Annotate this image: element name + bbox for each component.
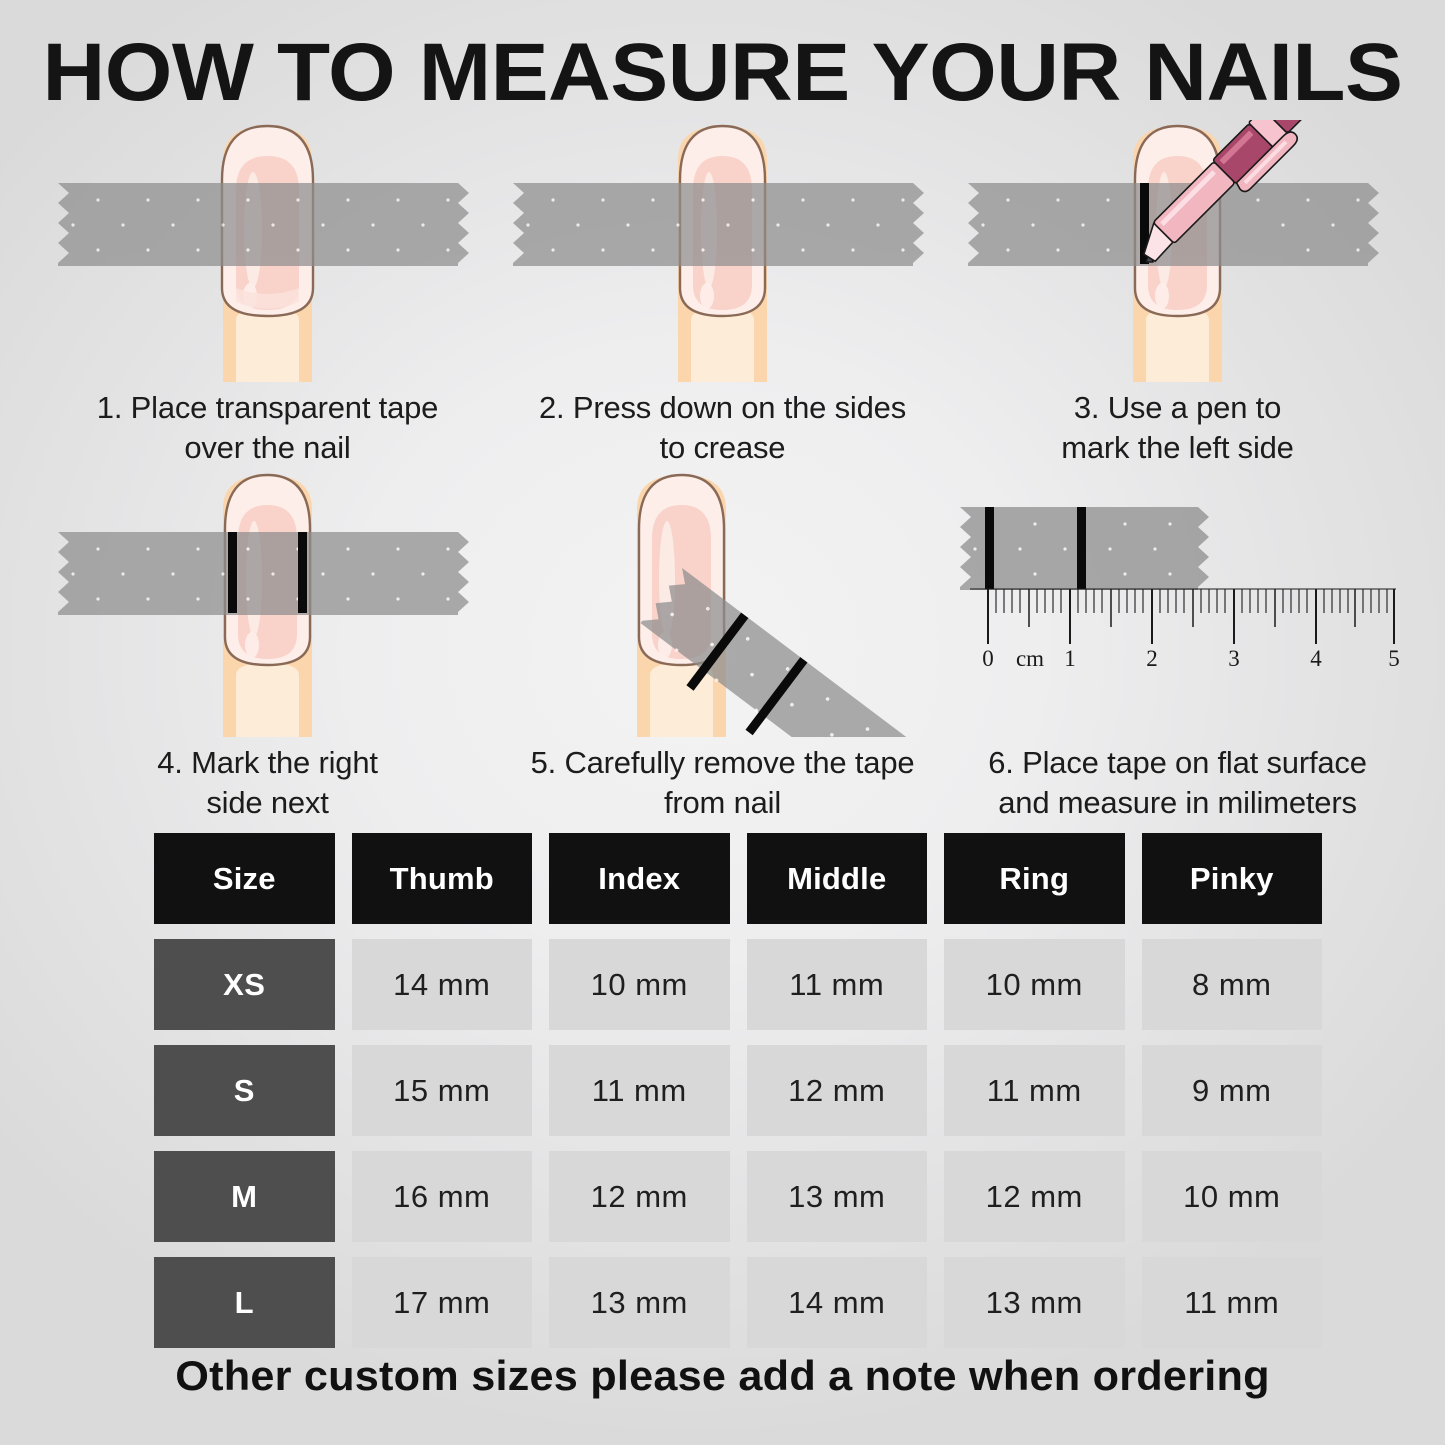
step-4-caption: 4. Mark the right side next (157, 743, 378, 824)
cell-xs-middle: 11 mm (747, 939, 928, 1030)
tape-strip (58, 532, 469, 615)
step-3-illustration (950, 120, 1405, 382)
page-title: HOW TO MEASURE YOUR NAILS (0, 26, 1445, 120)
step-6: 0 cm 1 2 3 4 5 6. Place tape on flat sur… (950, 469, 1405, 824)
footer-note: Other custom sizes please add a note whe… (0, 1352, 1445, 1400)
cell-xs-thumb: 14 mm (352, 939, 533, 1030)
cell-m-middle: 13 mm (747, 1151, 928, 1242)
cell-l-pinky: 11 mm (1142, 1257, 1323, 1348)
step-2-illustration (495, 120, 950, 382)
step-1-illustration (40, 120, 495, 382)
size-label-m: M (154, 1151, 335, 1242)
cell-s-thumb: 15 mm (352, 1045, 533, 1136)
ruler-tick-5: 5 (1388, 646, 1400, 671)
ruler (970, 589, 1396, 644)
cell-l-thumb: 17 mm (352, 1257, 533, 1348)
cell-s-middle: 12 mm (747, 1045, 928, 1136)
ruler-tick-4: 4 (1310, 646, 1322, 671)
step-5-illustration (495, 469, 950, 737)
step-2-caption: 2. Press down on the sides to crease (539, 388, 906, 469)
cell-xs-pinky: 8 mm (1142, 939, 1323, 1030)
cell-m-thumb: 16 mm (352, 1151, 533, 1242)
step-3: 3. Use a pen to mark the left side (950, 120, 1405, 469)
table-header-row: Size Thumb Index Middle Ring Pinky (154, 833, 1322, 924)
step-1: 1. Place transparent tape over the nail (40, 120, 495, 469)
ruler-labels: 0 cm 1 2 3 4 5 (982, 646, 1400, 671)
cell-xs-index: 10 mm (549, 939, 730, 1030)
table-row: L 17 mm 13 mm 14 mm 13 mm 11 mm (154, 1257, 1322, 1348)
ruler-tick-0: 0 (982, 646, 994, 671)
cell-l-index: 13 mm (549, 1257, 730, 1348)
cell-l-middle: 14 mm (747, 1257, 928, 1348)
step-2: 2. Press down on the sides to crease (495, 120, 950, 469)
step-4: 4. Mark the right side next (40, 469, 495, 824)
cell-m-pinky: 10 mm (1142, 1151, 1323, 1242)
ruler-tick-2: 2 (1146, 646, 1158, 671)
cell-m-ring: 12 mm (944, 1151, 1125, 1242)
infographic-page: HOW TO MEASURE YOUR NAILS (0, 0, 1445, 1445)
cell-xs-ring: 10 mm (944, 939, 1125, 1030)
cell-s-index: 11 mm (549, 1045, 730, 1136)
steps-grid: 1. Place transparent tape over the nail (40, 120, 1405, 823)
size-label-l: L (154, 1257, 335, 1348)
step-3-caption: 3. Use a pen to mark the left side (1061, 388, 1293, 469)
cell-s-ring: 11 mm (944, 1045, 1125, 1136)
step-4-illustration (40, 469, 495, 737)
step-5-caption: 5. Carefully remove the tape from nail (531, 743, 915, 824)
col-header-middle: Middle (747, 833, 928, 924)
size-label-xs: XS (154, 939, 335, 1030)
col-header-index: Index (549, 833, 730, 924)
right-mark (1077, 507, 1086, 589)
table-row: S 15 mm 11 mm 12 mm 11 mm 9 mm (154, 1045, 1322, 1136)
step-5: 5. Carefully remove the tape from nail (495, 469, 950, 824)
col-header-thumb: Thumb (352, 833, 533, 924)
tape-strip (58, 183, 469, 266)
cell-s-pinky: 9 mm (1142, 1045, 1323, 1136)
ruler-tick-1: 1 (1064, 646, 1076, 671)
size-label-s: S (154, 1045, 335, 1136)
col-header-size: Size (154, 833, 335, 924)
ruler-unit-label: cm (1016, 646, 1044, 671)
cell-m-index: 12 mm (549, 1151, 730, 1242)
step-6-illustration: 0 cm 1 2 3 4 5 (950, 469, 1405, 737)
left-mark (985, 507, 994, 589)
col-header-ring: Ring (944, 833, 1125, 924)
size-table: Size Thumb Index Middle Ring Pinky XS 14… (154, 833, 1322, 1363)
left-mark (228, 532, 237, 613)
right-mark (298, 532, 307, 613)
step-6-caption: 6. Place tape on flat surface and measur… (988, 743, 1367, 824)
ruler-tick-3: 3 (1228, 646, 1240, 671)
cell-l-ring: 13 mm (944, 1257, 1125, 1348)
tape-strip (513, 183, 924, 266)
step-1-caption: 1. Place transparent tape over the nail (97, 388, 438, 469)
table-row: M 16 mm 12 mm 13 mm 12 mm 10 mm (154, 1151, 1322, 1242)
col-header-pinky: Pinky (1142, 833, 1323, 924)
table-row: XS 14 mm 10 mm 11 mm 10 mm 8 mm (154, 939, 1322, 1030)
